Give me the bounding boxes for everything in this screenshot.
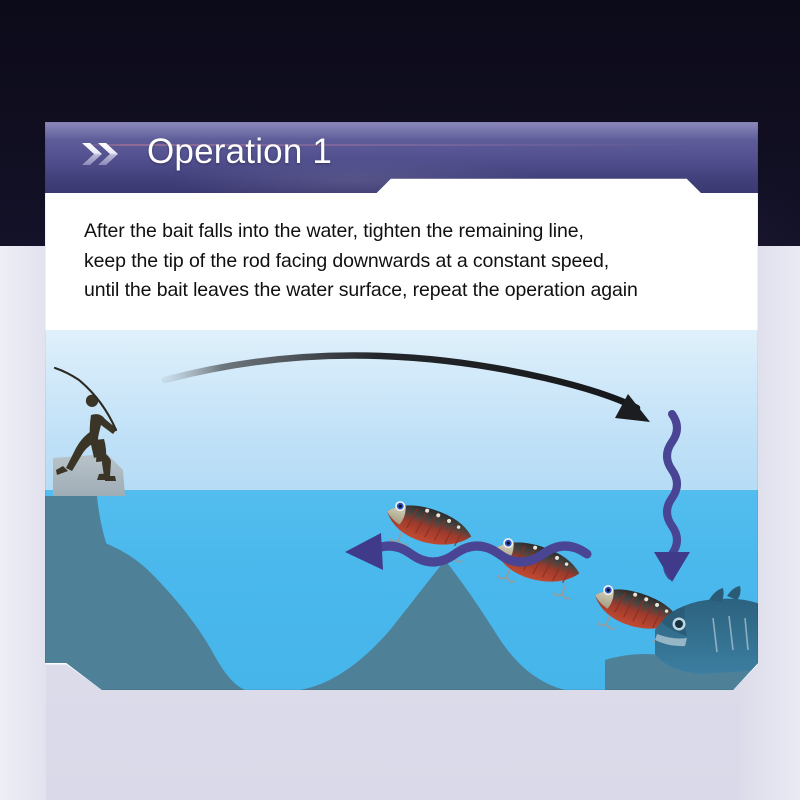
- background-left-sheen: [0, 246, 46, 800]
- instruction-line-2: keep the tip of the rod facing downwards…: [84, 247, 744, 277]
- illustration-vectors: [45, 330, 758, 690]
- page-title: Operation 1: [147, 130, 332, 174]
- underwater-hill: [300, 560, 565, 690]
- cast-arc-arrow: [165, 355, 650, 422]
- slide-canvas: Operation 1 After the bait falls into th…: [0, 0, 800, 800]
- sink-arrow: [654, 414, 690, 582]
- instruction-text: After the bait falls into the water, tig…: [84, 217, 744, 306]
- predator-fish: [655, 586, 758, 674]
- instruction-line-3: until the bait leaves the water surface,…: [84, 276, 744, 306]
- cliff-rock: [53, 454, 125, 496]
- instruction-line-1: After the bait falls into the water, tig…: [84, 217, 744, 247]
- double-chevron-right-icon: [80, 139, 140, 169]
- illustration-panel: [45, 330, 758, 690]
- shore-shelf: [45, 530, 245, 690]
